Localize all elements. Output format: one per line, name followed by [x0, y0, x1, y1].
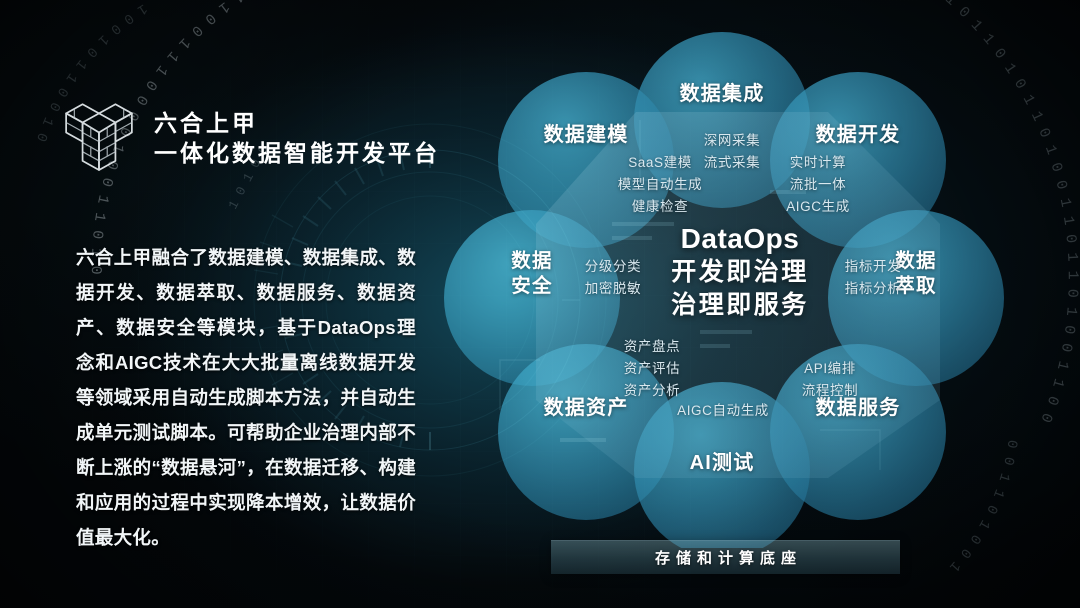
venn-label-data-integration[interactable]: 数据集成	[662, 82, 782, 107]
venn-overlap-service-capabilities: API编排 流程控制	[776, 358, 884, 402]
venn-label-data-modeling[interactable]: 数据建模	[526, 123, 646, 148]
slide-canvas: 1 0 1 1 0 0 1 1 1 0 0 0 0 1 0 0 1 1 0 1 …	[0, 0, 1080, 608]
venn-overlap-development-capabilities: 实时计算 流批一体 AIGC生成	[758, 152, 878, 218]
base-bar-label: 存储和计算底座	[649, 547, 802, 568]
venn-label-ai-testing[interactable]: AI测试	[668, 451, 776, 476]
intro-paragraph: 六合上甲融合了数据建模、数据集成、数据开发、数据萃取、数据服务、数据资产、数据安…	[76, 240, 416, 555]
venn-overlap-security-capabilities: 分级分类 加密脱敏	[562, 256, 664, 300]
brand-block: 六合上甲 一体化数据智能开发平台	[62, 96, 440, 180]
venn-overlap-testing-capabilities: AIGC自动生成	[658, 400, 788, 422]
venn-overlap-extraction-capabilities: 指标开发 指标分析	[822, 256, 924, 300]
storage-compute-base-bar: 存储和计算底座	[551, 540, 900, 574]
brand-tagline: 一体化数据智能开发平台	[154, 142, 440, 165]
brand-name: 六合上甲	[154, 112, 440, 135]
venn-diagram: 数据集成 数据建模 数据开发 数据 安全 数据 萃取 数据资产 数据服务 AI测…	[440, 8, 1040, 548]
isometric-brick-wall-logo-icon	[62, 96, 136, 180]
venn-overlap-asset-capabilities: 资产盘点 资产评估 资产分析	[594, 336, 710, 402]
brand-text: 六合上甲 一体化数据智能开发平台	[154, 112, 440, 165]
venn-label-data-development[interactable]: 数据开发	[798, 123, 918, 148]
